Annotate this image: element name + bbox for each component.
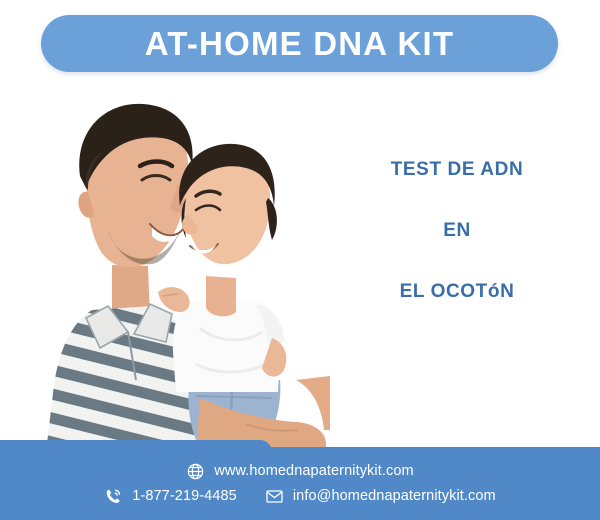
header-banner: AT-HOME DNA KIT — [41, 15, 558, 72]
email-label: info@homednapaternitykit.com — [293, 489, 496, 504]
promo-line-3: EL OCOTóN — [322, 282, 592, 301]
page-title: AT-HOME DNA KIT — [145, 27, 454, 60]
footer-row-phone-email: 1-877-219-4485 info@homednapaternitykit.… — [0, 487, 600, 506]
globe-icon — [186, 462, 205, 481]
phone-icon — [104, 487, 123, 506]
footer-contact-rows: www.homednapaternitykit.com 1-877-219-44… — [0, 447, 600, 520]
envelope-icon — [265, 487, 284, 506]
phone-contact-item[interactable]: 1-877-219-4485 — [104, 487, 237, 506]
email-contact-item[interactable]: info@homednapaternitykit.com — [265, 487, 496, 506]
website-contact-item[interactable]: www.homednapaternitykit.com — [186, 462, 413, 481]
website-label: www.homednapaternitykit.com — [214, 464, 413, 479]
promo-card: AT-HOME DNA KIT — [0, 0, 600, 520]
promo-line-2: EN — [322, 221, 592, 240]
footer-row-website: www.homednapaternitykit.com — [0, 462, 600, 481]
father-holding-toddler-photo — [0, 80, 330, 452]
phone-label: 1-877-219-4485 — [132, 489, 237, 504]
promo-text-block: TEST DE ADN EN EL OCOTóN — [322, 160, 592, 301]
promo-line-1: TEST DE ADN — [322, 160, 592, 179]
